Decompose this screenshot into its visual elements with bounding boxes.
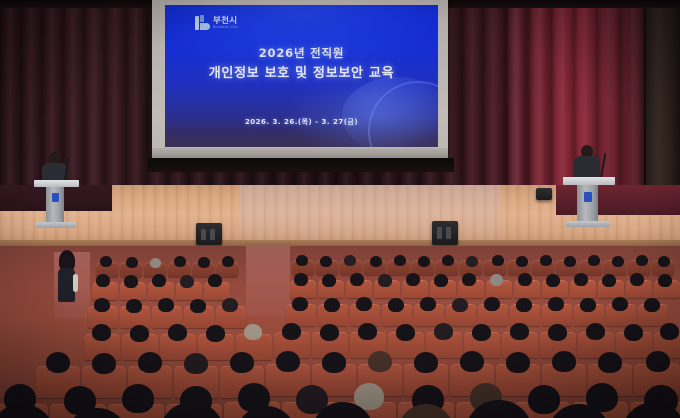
left-podium-emblem-icon xyxy=(52,193,59,202)
left-podium-base xyxy=(36,222,76,228)
bucheon-city-logo-icon xyxy=(195,15,210,31)
stage-monitor-right xyxy=(432,221,458,245)
right-speaker-body xyxy=(574,156,600,179)
slide-logo-text: 부천시 Bucheon City xyxy=(213,17,238,30)
slide-title: 2026년 전직원 xyxy=(165,45,438,61)
right-podium-emblem-icon xyxy=(584,192,592,202)
stage-monitor-left xyxy=(196,223,222,245)
stage-light-reflection xyxy=(240,185,500,243)
projection-screen: 부천시 Bucheon City 2026년 전직원 개인정보 보호 및 정보보… xyxy=(152,0,448,160)
stage-monitor-back-right xyxy=(536,188,552,200)
right-podium-top xyxy=(563,177,615,185)
slide-date: 2026. 3. 26.(목) - 3. 27(금) xyxy=(165,117,438,127)
center-aisle xyxy=(246,246,290,316)
audience-seating xyxy=(0,246,680,418)
left-podium xyxy=(30,152,86,230)
slide-subtitle: 개인정보 보호 및 정보보안 교육 xyxy=(165,62,438,81)
presentation-slide: 부천시 Bucheon City 2026년 전직원 개인정보 보호 및 정보보… xyxy=(165,5,438,147)
right-podium-column xyxy=(577,185,598,222)
screen-valance-bar xyxy=(148,158,454,172)
slide-logo-korean: 부천시 xyxy=(213,17,238,26)
attendant-arm xyxy=(73,274,78,292)
right-podium-microphone xyxy=(600,153,606,178)
left-podium-top xyxy=(34,180,79,187)
auditorium-scene: 부천시 Bucheon City 2026년 전직원 개인정보 보호 및 정보보… xyxy=(0,0,680,418)
right-podium xyxy=(560,145,622,230)
slide-logo: 부천시 Bucheon City xyxy=(195,15,238,31)
attendant-head xyxy=(61,254,74,269)
slide-logo-english: Bucheon City xyxy=(213,26,238,29)
right-podium-base xyxy=(566,221,610,227)
